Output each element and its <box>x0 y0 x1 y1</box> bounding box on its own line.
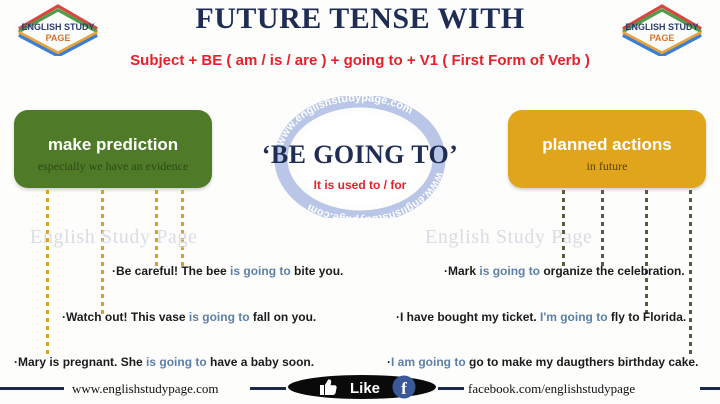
footer-rule-1 <box>0 387 64 390</box>
example-text-post: fall on you. <box>250 310 317 324</box>
footer-rule-3 <box>438 387 464 390</box>
box-left-title: make prediction <box>14 110 212 153</box>
example-text-highlight: I am going to <box>391 355 466 369</box>
example-text-highlight: I'm going to <box>540 310 608 324</box>
connector-dotted-right-2 <box>601 190 604 268</box>
page-title: FUTURE TENSE WITH <box>0 2 720 36</box>
example-left-1: ·Be careful! The bee is going to bite yo… <box>112 264 343 278</box>
example-text-pre: Mark <box>448 264 479 278</box>
box-right-subtitle: in future <box>508 160 706 172</box>
footer-website[interactable]: www.englishstudypage.com <box>72 381 218 397</box>
box-right-title: planned actions <box>508 110 706 153</box>
facebook-icon: f <box>393 376 416 399</box>
example-right-3: ·I am going to go to make my daugthers b… <box>387 355 698 369</box>
center-subtitle: It is used to / for <box>210 178 510 192</box>
connector-dotted-left-1 <box>46 190 49 358</box>
page-watermark-left: English Study Page <box>30 226 197 249</box>
box-left-subtitle: especially we have an evidence <box>14 160 212 172</box>
use-case-box-make-prediction[interactable]: make prediction especially we have an ev… <box>14 110 212 188</box>
formula-line: Subject + BE ( am / is / are ) + going t… <box>0 52 720 69</box>
footer-rule-4 <box>700 387 720 390</box>
example-text-pre: Be careful! The bee <box>116 264 230 278</box>
example-text-post: bite you. <box>291 264 344 278</box>
footer-rule-2 <box>250 387 286 390</box>
center-headline: ‘BE GOING TO’ <box>210 140 510 170</box>
infographic-canvas: ENGLISH STUDY PAGE ENGLISH STUDY PAGE FU… <box>0 0 720 404</box>
connector-dotted-right-4 <box>689 190 692 358</box>
ring-text-bottom: www.englishstudypage.com <box>305 170 446 218</box>
example-text-highlight: is going to <box>189 310 250 324</box>
facebook-like-badge[interactable]: Like f <box>288 374 436 400</box>
example-text-post: go to make my daugthers birthday cake. <box>466 355 699 369</box>
example-text-post: fly to Florida. <box>608 310 687 324</box>
example-left-2: ·Watch out! This vase is going to fall o… <box>62 310 316 324</box>
example-text-pre: I have bought my ticket. <box>400 310 540 324</box>
example-text-post: organize the celebration. <box>540 264 685 278</box>
like-label: Like <box>350 380 380 397</box>
example-text-highlight: is going to <box>479 264 540 278</box>
connector-dotted-left-2 <box>101 190 104 314</box>
page-watermark-right: English Study Page <box>425 226 592 249</box>
example-text-highlight: is going to <box>230 264 291 278</box>
example-text-post: have a baby soon. <box>207 355 314 369</box>
example-left-3: ·Mary is pregnant. She is going to have … <box>14 355 314 369</box>
example-right-1: ·Mark is going to organize the celebrati… <box>444 264 685 278</box>
example-text-pre: Watch out! This vase <box>66 310 189 324</box>
svg-text:www.englishstudypage.com: www.englishstudypage.com <box>305 170 446 218</box>
connector-dotted-right-3 <box>645 190 648 314</box>
footer-facebook-url[interactable]: facebook.com/englishstudypage <box>468 381 635 397</box>
example-text-pre: Mary is pregnant. She <box>18 355 146 369</box>
facebook-letter: f <box>401 379 407 398</box>
example-right-2: ·I have bought my ticket. I'm going to f… <box>396 310 686 324</box>
example-text-highlight: is going to <box>146 355 207 369</box>
use-case-box-planned-actions[interactable]: planned actions in future <box>508 110 706 188</box>
